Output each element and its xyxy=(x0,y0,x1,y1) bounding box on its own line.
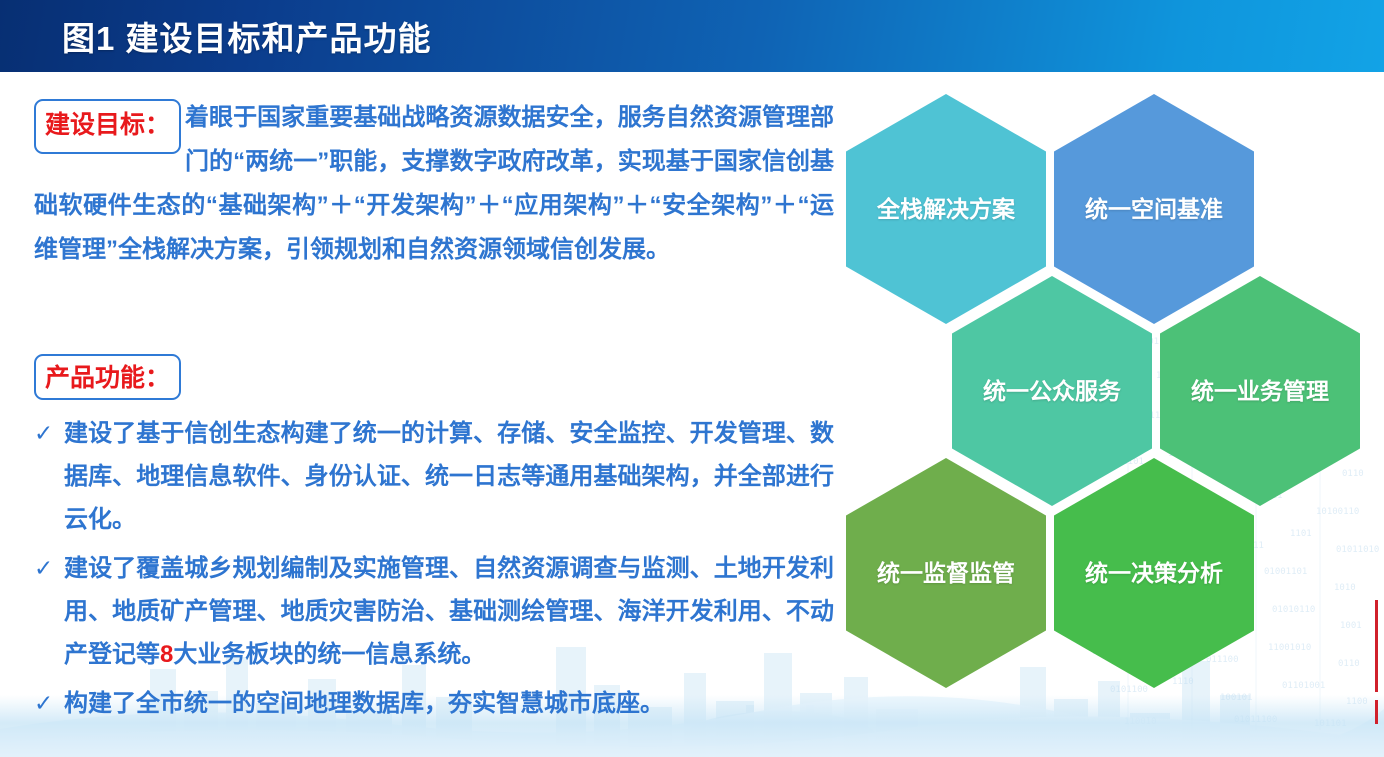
hexagon-unified-business-management[interactable]: 统一业务管理 xyxy=(1160,276,1360,506)
hexagon-cluster: 全栈解决方案 统一空间基准 统一公众服务 统一业务管理 统一监督监管 统一决策分… xyxy=(836,84,1384,724)
check-icon: ✓ xyxy=(34,412,64,455)
hexagon-full-stack-solution[interactable]: 全栈解决方案 xyxy=(846,94,1046,324)
list-item-text-before: 构建了全市统一的空间地理数据库，夯实智慧城市底座。 xyxy=(64,690,664,717)
list-item-highlight: 8 xyxy=(160,641,173,668)
content-column-left: 建设目标： 着眼于国家重要基础战略资源数据安全，服务自然资源管理部门的“两统一”… xyxy=(34,96,844,736)
list-item: ✓ 建设了覆盖城乡规划编制及实施管理、自然资源调查与监测、土地开发利用、地质矿产… xyxy=(34,547,834,676)
list-item-text-after: 大业务板块的统一信息系统。 xyxy=(173,641,485,668)
hexagon-label: 统一公众服务 xyxy=(957,376,1147,407)
list-item-text: 建设了基于信创生态构建了统一的计算、存储、安全监控、开发管理、数据库、地理信息软… xyxy=(64,412,834,541)
slide-canvas: 1011001001 11001010110 100110100101 0010… xyxy=(0,0,1384,757)
list-item: ✓ 构建了全市统一的空间地理数据库，夯实智慧城市底座。 xyxy=(34,682,834,725)
functions-tag-label: 产品功能： xyxy=(45,364,170,392)
goal-tag-label: 建设目标： xyxy=(45,111,170,139)
hexagon-unified-spatial-datum[interactable]: 统一空间基准 xyxy=(1054,94,1254,324)
hexagon-unified-supervision[interactable]: 统一监督监管 xyxy=(846,458,1046,688)
page-title: 图1 建设目标和产品功能 xyxy=(62,12,432,60)
check-icon: ✓ xyxy=(34,547,64,590)
list-item: ✓ 建设了基于信创生态构建了统一的计算、存储、安全监控、开发管理、数据库、地理信… xyxy=(34,412,834,541)
functions-section-head: 产品功能： xyxy=(34,354,181,400)
check-icon: ✓ xyxy=(34,682,64,725)
goal-section: 建设目标： 着眼于国家重要基础战略资源数据安全，服务自然资源管理部门的“两统一”… xyxy=(34,96,834,272)
hexagon-label: 全栈解决方案 xyxy=(851,194,1041,225)
hexagon-label: 统一空间基准 xyxy=(1059,194,1249,225)
list-item-text: 建设了覆盖城乡规划编制及实施管理、自然资源调查与监测、土地开发利用、地质矿产管理… xyxy=(64,547,834,676)
hexagon-unified-decision-analysis[interactable]: 统一决策分析 xyxy=(1054,458,1254,688)
header-bar: 图1 建设目标和产品功能 xyxy=(0,0,1384,72)
right-edge-accent-line-lower xyxy=(1375,700,1378,724)
hexagon-unified-public-service[interactable]: 统一公众服务 xyxy=(952,276,1152,506)
goal-paragraph-wrapper: 建设目标： 着眼于国家重要基础战略资源数据安全，服务自然资源管理部门的“两统一”… xyxy=(34,96,834,272)
hexagon-label: 统一决策分析 xyxy=(1059,558,1249,589)
list-item-text: 构建了全市统一的空间地理数据库，夯实智慧城市底座。 xyxy=(64,682,834,725)
functions-bullet-list: ✓ 建设了基于信创生态构建了统一的计算、存储、安全监控、开发管理、数据库、地理信… xyxy=(34,412,834,731)
list-item-text-before: 建设了基于信创生态构建了统一的计算、存储、安全监控、开发管理、数据库、地理信息软… xyxy=(64,420,834,533)
functions-tag-box: 产品功能： xyxy=(34,354,181,400)
hexagon-label: 统一监督监管 xyxy=(851,558,1041,589)
hexagon-label: 统一业务管理 xyxy=(1165,376,1355,407)
right-edge-accent-line xyxy=(1375,600,1378,692)
goal-tag-box: 建设目标： xyxy=(34,99,181,154)
